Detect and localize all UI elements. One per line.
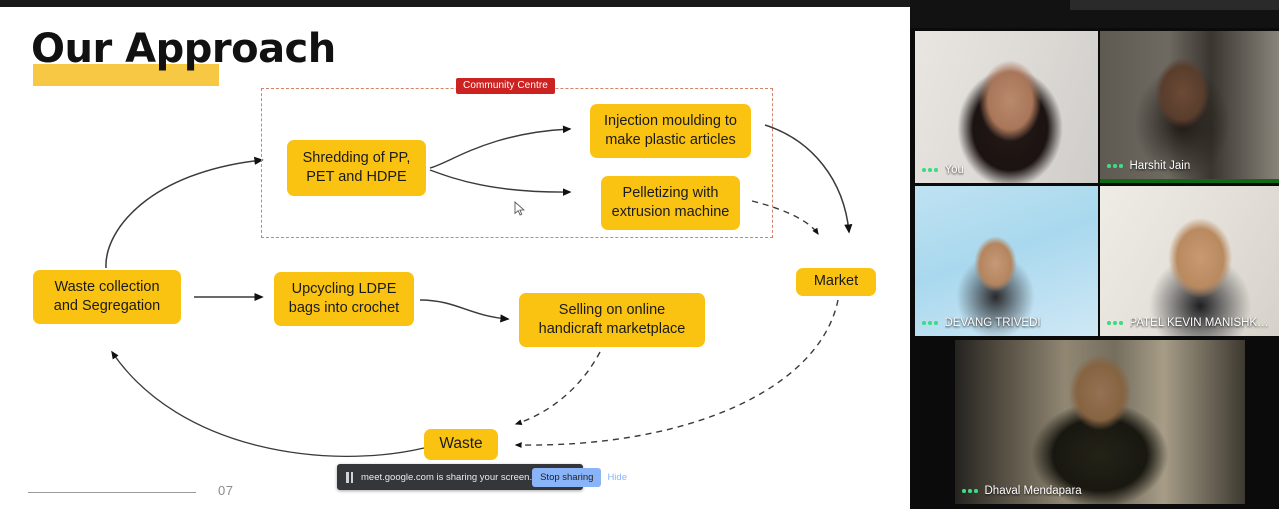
participant-name-block: Harshit Jain bbox=[1107, 160, 1190, 172]
video-feed bbox=[955, 340, 1245, 504]
browser-chrome-strip bbox=[910, 0, 1279, 28]
node-selling-online: Selling on online handicraft marketplace bbox=[519, 293, 705, 347]
participant-name-block: Dhaval Mendapara bbox=[962, 485, 1082, 497]
audio-activity-icon bbox=[922, 321, 938, 325]
community-centre-label: Community Centre bbox=[456, 78, 555, 94]
stop-sharing-button[interactable]: Stop sharing bbox=[532, 468, 601, 487]
mouse-cursor-icon bbox=[514, 201, 526, 217]
page-number: 07 bbox=[218, 483, 233, 498]
meet-participants-panel: You Harshit Jain DEVANG TRIVEDI PATEL KE… bbox=[910, 0, 1279, 509]
share-message: meet.google.com is sharing your screen. bbox=[361, 472, 532, 483]
pause-icon bbox=[345, 472, 354, 483]
participant-tile-devang-trivedi[interactable]: DEVANG TRIVEDI bbox=[915, 186, 1098, 336]
participant-name-block: DEVANG TRIVEDI bbox=[922, 317, 1041, 329]
participant-tile-patel-kevin[interactable]: PATEL KEVIN MANISHK… bbox=[1100, 186, 1279, 336]
audio-activity-icon bbox=[1107, 321, 1123, 325]
video-feed bbox=[915, 186, 1098, 336]
participant-name: Dhaval Mendapara bbox=[985, 485, 1082, 497]
video-feed bbox=[1100, 31, 1279, 179]
node-upcycling-ldpe: Upcycling LDPE bags into crochet bbox=[274, 272, 414, 326]
footer-rule bbox=[28, 492, 196, 493]
participant-name: PATEL KEVIN MANISHK… bbox=[1130, 317, 1269, 329]
participant-name: Harshit Jain bbox=[1130, 160, 1191, 172]
audio-activity-icon bbox=[962, 489, 978, 493]
presentation-slide: Our Approach bbox=[0, 0, 910, 509]
screen-share-bar[interactable]: meet.google.com is sharing your screen. … bbox=[337, 464, 583, 490]
hide-button[interactable]: Hide bbox=[607, 472, 630, 483]
slide-title-block: Our Approach bbox=[31, 29, 336, 69]
audio-activity-icon bbox=[1107, 164, 1123, 168]
participant-name-block: You bbox=[922, 164, 964, 176]
video-feed bbox=[1100, 186, 1279, 336]
node-shredding: Shredding of PP, PET and HDPE bbox=[287, 140, 426, 196]
participant-name-block: PATEL KEVIN MANISHK… bbox=[1107, 317, 1269, 329]
chrome-toolbar-shadow bbox=[1070, 0, 1279, 10]
participant-tile-you[interactable]: You bbox=[915, 31, 1098, 183]
participant-name: DEVANG TRIVEDI bbox=[945, 317, 1041, 329]
node-waste: Waste bbox=[424, 429, 498, 460]
participant-tile-dhaval-mendapara[interactable]: Dhaval Mendapara bbox=[955, 340, 1245, 504]
node-pelletizing: Pelletizing with extrusion machine bbox=[601, 176, 740, 230]
participant-name: You bbox=[945, 164, 964, 176]
node-market: Market bbox=[796, 268, 876, 296]
page-title: Our Approach bbox=[31, 29, 336, 69]
screenshot-root: Our Approach bbox=[0, 0, 1279, 509]
video-feed bbox=[915, 31, 1098, 183]
node-injection-moulding: Injection moulding to make plastic artic… bbox=[590, 104, 751, 158]
audio-activity-icon bbox=[922, 168, 938, 172]
node-waste-collection: Waste collection and Segregation bbox=[33, 270, 181, 324]
participant-tile-harshit-jain[interactable]: Harshit Jain bbox=[1100, 31, 1279, 183]
